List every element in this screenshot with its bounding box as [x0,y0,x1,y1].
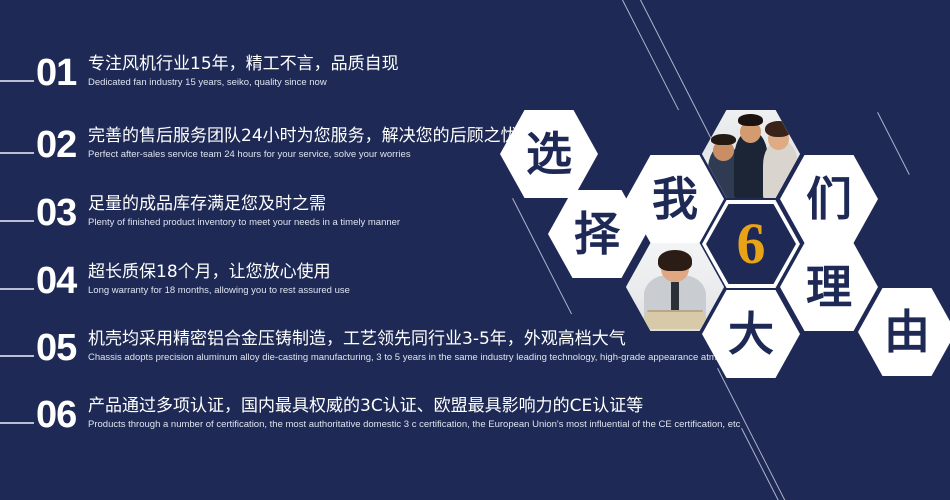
reason-text: 完善的售后服务团队24小时为您服务，解决您的后顾之忧 Perfect after… [88,124,518,161]
reason-text-en: Long warranty for 18 months, allowing yo… [88,284,350,297]
reason-text-cn: 超长质保18个月，让您放心使用 [88,260,350,284]
hex-glyph: 大 [728,311,774,357]
row-rule [0,355,34,357]
banner-root: 01 专注风机行业15年，精工不言，品质自现 Dedicated fan ind… [0,0,950,500]
photo-content [702,110,800,198]
reason-number: 01 [36,51,76,95]
reason-text-en: Products through a number of certificati… [88,418,740,431]
hex-you[interactable]: 由 [858,288,950,376]
row-rule [0,152,34,154]
diagonal-line-3 [877,112,910,175]
reason-text: 足量的成品库存满足您及时之需 Plenty of finished produc… [88,192,400,229]
reason-text-cn: 完善的售后服务团队24小时为您服务，解决您的后顾之忧 [88,124,518,148]
team-meeting-photo [702,110,800,198]
hex-glyph: 由 [884,309,930,355]
photo-laptop [638,310,712,330]
row-rule [0,220,34,222]
row-rule [0,288,34,290]
hex-da[interactable]: 大 [702,290,800,378]
reason-text-cn: 足量的成品库存满足您及时之需 [88,192,400,216]
row-rule [0,422,34,424]
hex-men[interactable]: 们 [780,155,878,243]
reason-text-en: Plenty of finished product inventory to … [88,216,400,229]
photo-man-hair [658,250,691,271]
diagonal-line-5 [717,368,791,500]
reason-text-en: Perfect after-sales service team 24 hour… [88,148,518,161]
diagonal-line-6 [741,428,783,500]
hex-glyph: 择 [574,211,620,257]
row-rule [0,80,34,82]
reason-number: 03 [36,191,76,235]
reason-text: 机壳均采用精密铝合金压铸制造，工艺领先同行业3-5年，外观高档大气 Chassi… [88,327,751,364]
reason-text-cn: 专注风机行业15年，精工不言，品质自现 [88,52,399,76]
hex-glyph: 我 [652,176,698,222]
photo-person-center-head [740,121,761,143]
reason-number: 04 [36,259,76,303]
hex-glyph: 们 [806,176,852,222]
reason-text-cn: 产品通过多项认证，国内最具权威的3C认证、欧盟最具影响力的CE认证等 [88,394,740,418]
hex-six-inner: 6 [706,204,796,284]
reason-text-en: Chassis adopts precision aluminum alloy … [88,351,751,364]
hex-li[interactable]: 理 [780,243,878,331]
reason-text: 专注风机行业15年，精工不言，品质自现 Dedicated fan indust… [88,52,399,89]
hex-glyph: 6 [737,215,766,273]
reason-text: 超长质保18个月，让您放心使用 Long warranty for 18 mon… [88,260,350,297]
reason-number: 05 [36,326,76,370]
reason-number: 02 [36,123,76,167]
hex-glyph: 选 [526,131,572,177]
reason-text-en: Dedicated fan industry 15 years, seiko, … [88,76,399,89]
reason-text: 产品通过多项认证，国内最具权威的3C认证、欧盟最具影响力的CE认证等 Produ… [88,394,740,431]
hex-glyph: 理 [806,264,852,310]
reason-number: 06 [36,393,76,437]
